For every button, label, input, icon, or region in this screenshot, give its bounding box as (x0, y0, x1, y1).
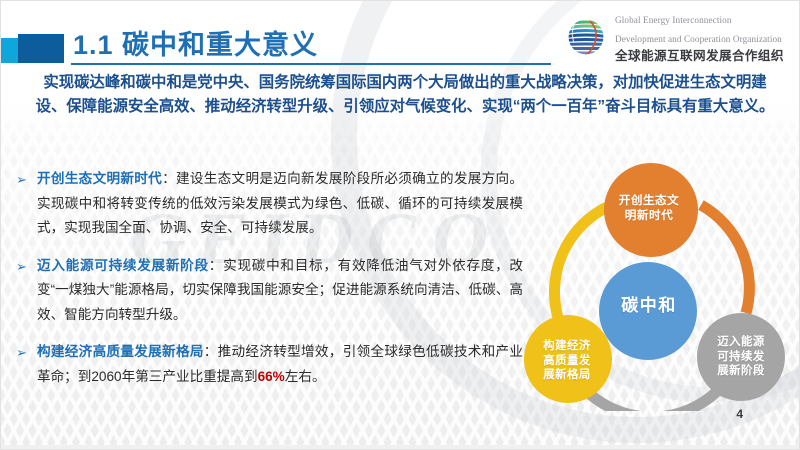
bullet-lead-in: 开创生态文明新时代 (37, 171, 162, 186)
lead-paragraph-text: 实现碳达峰和碳中和是党中央、国务院统筹国际国内两个大局做出的重大战略决策，对加快… (31, 71, 779, 118)
bullet-body-tail: 左右。 (285, 369, 326, 384)
node-circle-eco (604, 163, 698, 257)
title-underline (71, 63, 551, 65)
list-item: ➢开创生态文明新时代：建设生态文明是迈向新发展阶段所必须确立的发展方向。实现碳中… (15, 167, 523, 241)
header-accent-square-cyan (1, 38, 18, 63)
organization-logo: Global Energy Interconnection Developmen… (564, 10, 784, 64)
logo-text-block: Global Energy Interconnection Developmen… (615, 10, 784, 64)
logo-english-line-1: Global Energy Interconnection (615, 15, 732, 25)
bottom-rule (1, 445, 799, 449)
globe-icon (564, 15, 608, 59)
highlighted-figure: 66% (258, 369, 285, 384)
bullet-separator: ： (204, 344, 218, 359)
page-title: 1.1 碳中和重大意义 (73, 23, 318, 62)
bullet-list: ➢开创生态文明新时代：建设生态文明是迈向新发展阶段所必须确立的发展方向。实现碳中… (15, 167, 523, 402)
slide-canvas: GEIDCO 1.1 碳中和重大意义 (0, 0, 800, 450)
node-circle-center (599, 262, 697, 360)
arrow-bullet-icon: ➢ (16, 255, 27, 279)
node-circle-energy (697, 313, 785, 401)
arrow-bullet-icon: ➢ (16, 341, 27, 365)
lead-paragraph: 实现碳达峰和碳中和是党中央、国务院统筹国际国内两个大局做出的重大战略决策，对加快… (31, 71, 779, 118)
carbon-neutrality-diagram: 开创生态文明新时代 碳中和 构建经济高质量发展新格局 迈入能源可持续发展新阶段 (513, 161, 800, 411)
logo-english-line-2: Development and Cooperation Organization (615, 34, 782, 44)
list-item: ➢构建经济高质量发展新格局：推动经济转型增效，引领全球绿色低碳技术和产业革命；到… (15, 340, 523, 389)
logo-chinese-name: 全球能源互联网发展合作组织 (615, 49, 784, 64)
node-circle-econ (524, 315, 612, 403)
bullet-lead-in: 构建经济高质量发展新格局 (37, 344, 204, 359)
bullet-separator: ： (209, 258, 223, 273)
list-item: ➢迈入能源可持续发展新阶段：实现碳中和目标，有效降低油气对外依存度，改变“一煤独… (15, 254, 523, 328)
arc-eco-to-energy (701, 205, 749, 313)
bullet-lead-in: 迈入能源可持续发展新阶段 (37, 258, 209, 273)
bullet-separator: ： (162, 171, 176, 186)
arrow-bullet-icon: ➢ (16, 168, 27, 192)
page-number: 4 (736, 407, 743, 421)
header-accent-square-blue (18, 34, 64, 63)
